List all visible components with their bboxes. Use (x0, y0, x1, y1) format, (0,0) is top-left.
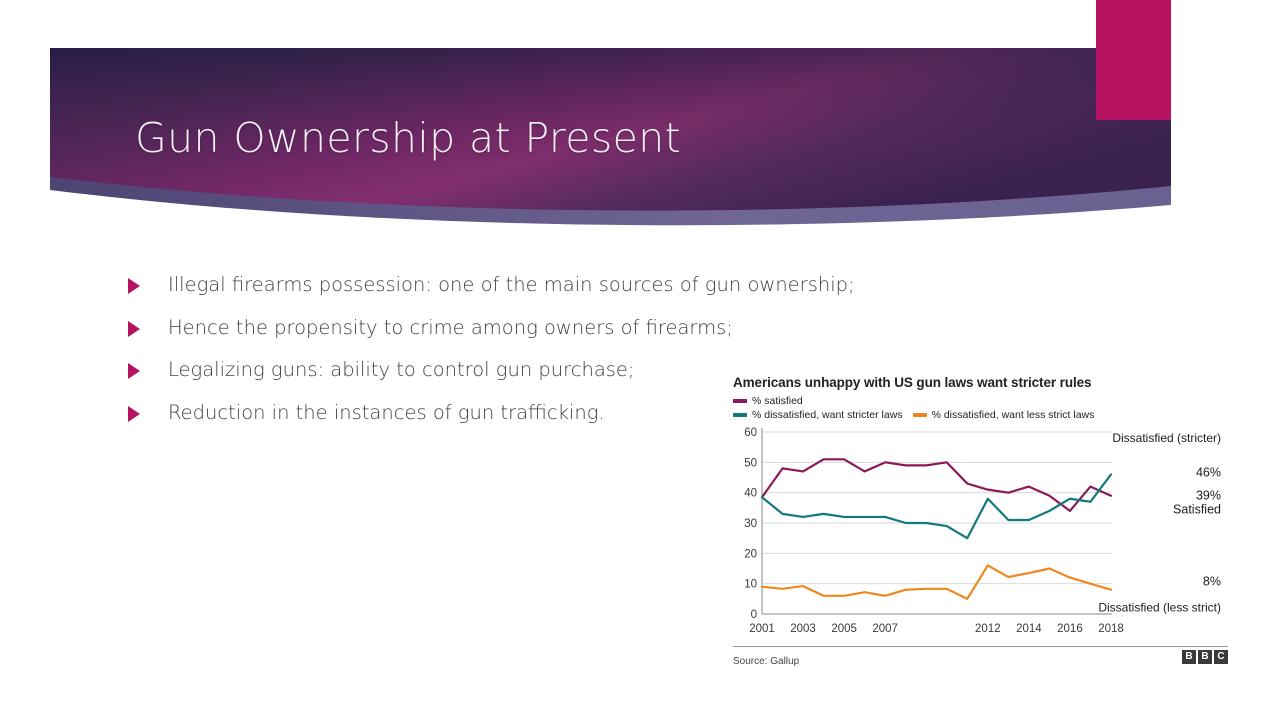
legend-item-satisfied: % satisfied (733, 395, 803, 407)
chart-svg: 0102030405060200120032005200720122014201… (733, 424, 1228, 642)
y-axis-tick-label: 50 (744, 457, 757, 469)
list-item-label: Legalizing guns: ability to control gun … (168, 359, 635, 381)
bullet-list: Illegal firearms possession: one of the … (128, 274, 748, 444)
x-axis-tick-label: 2016 (1057, 623, 1083, 635)
y-axis-tick-label: 0 (751, 609, 757, 621)
chart-annotation: 39% (1196, 489, 1221, 503)
bbc-logo-letter: B (1182, 650, 1196, 664)
list-item: Legalizing guns: ability to control gun … (128, 359, 748, 381)
list-item-label: Illegal firearms possession: one of the … (168, 274, 855, 296)
y-axis-tick-label: 10 (744, 579, 757, 591)
chart-plot-area: 0102030405060200120032005200720122014201… (733, 424, 1228, 642)
x-axis-tick-label: 2001 (749, 623, 775, 635)
chart-annotation: 46% (1196, 465, 1221, 479)
triangle-bullet-icon (128, 363, 140, 379)
chart-footer: Source: Gallup B B C (733, 646, 1228, 666)
list-item: Hence the propensity to crime among owne… (128, 317, 748, 339)
triangle-bullet-icon (128, 321, 140, 337)
accent-rectangle (1096, 0, 1171, 120)
y-axis-tick-label: 60 (744, 427, 757, 439)
chart-annotation: Dissatisfied (stricter) (1112, 431, 1221, 445)
chart-series-line (762, 459, 1111, 511)
list-item: Reduction in the instances of gun traffi… (128, 402, 748, 424)
legend-swatch-stricter (733, 413, 747, 417)
x-axis-tick-label: 2014 (1016, 623, 1042, 635)
bbc-logo-letter: C (1214, 650, 1228, 664)
triangle-bullet-icon (128, 406, 140, 422)
chart-legend-row-2: % dissatisfied, want stricter laws % dis… (733, 409, 1228, 421)
y-axis-tick-label: 30 (744, 518, 757, 530)
legend-swatch-less-strict (913, 413, 927, 417)
bbc-logo: B B C (1182, 650, 1228, 664)
legend-label-stricter: % dissatisfied, want stricter laws (752, 409, 903, 421)
legend-label-less-strict: % dissatisfied, want less strict laws (932, 409, 1095, 421)
chart-annotation: Dissatisfied (less strict) (1098, 600, 1221, 614)
chart-annotation: 8% (1203, 575, 1221, 589)
x-axis-tick-label: 2018 (1098, 623, 1124, 635)
x-axis-tick-label: 2012 (975, 623, 1001, 635)
y-axis-tick-label: 20 (744, 548, 757, 560)
x-axis-tick-label: 2005 (831, 623, 857, 635)
legend-swatch-satisfied (733, 399, 747, 403)
page-title: Gun Ownership at Present (135, 114, 681, 162)
list-item-label: Hence the propensity to crime among owne… (168, 317, 733, 339)
source-label: Source: Gallup (733, 656, 799, 667)
chart-legend-row-1: % satisfied (733, 395, 1228, 407)
chart-annotation: Satisfied (1173, 503, 1221, 517)
triangle-bullet-icon (128, 278, 140, 294)
y-axis-tick-label: 40 (744, 488, 757, 500)
x-axis-tick-label: 2003 (790, 623, 816, 635)
list-item: Illegal firearms possession: one of the … (128, 274, 748, 296)
legend-item-stricter: % dissatisfied, want stricter laws (733, 409, 903, 421)
x-axis-tick-label: 2007 (872, 623, 898, 635)
chart-title: Americans unhappy with US gun laws want … (733, 375, 1228, 390)
list-item-label: Reduction in the instances of gun traffi… (168, 402, 605, 424)
bbc-logo-letter: B (1198, 650, 1212, 664)
bbc-chart-figure: Americans unhappy with US gun laws want … (733, 375, 1228, 700)
legend-item-less-strict: % dissatisfied, want less strict laws (913, 409, 1095, 421)
legend-label-satisfied: % satisfied (752, 395, 803, 407)
chart-series-line (762, 565, 1111, 598)
chart-series-line (762, 474, 1111, 538)
